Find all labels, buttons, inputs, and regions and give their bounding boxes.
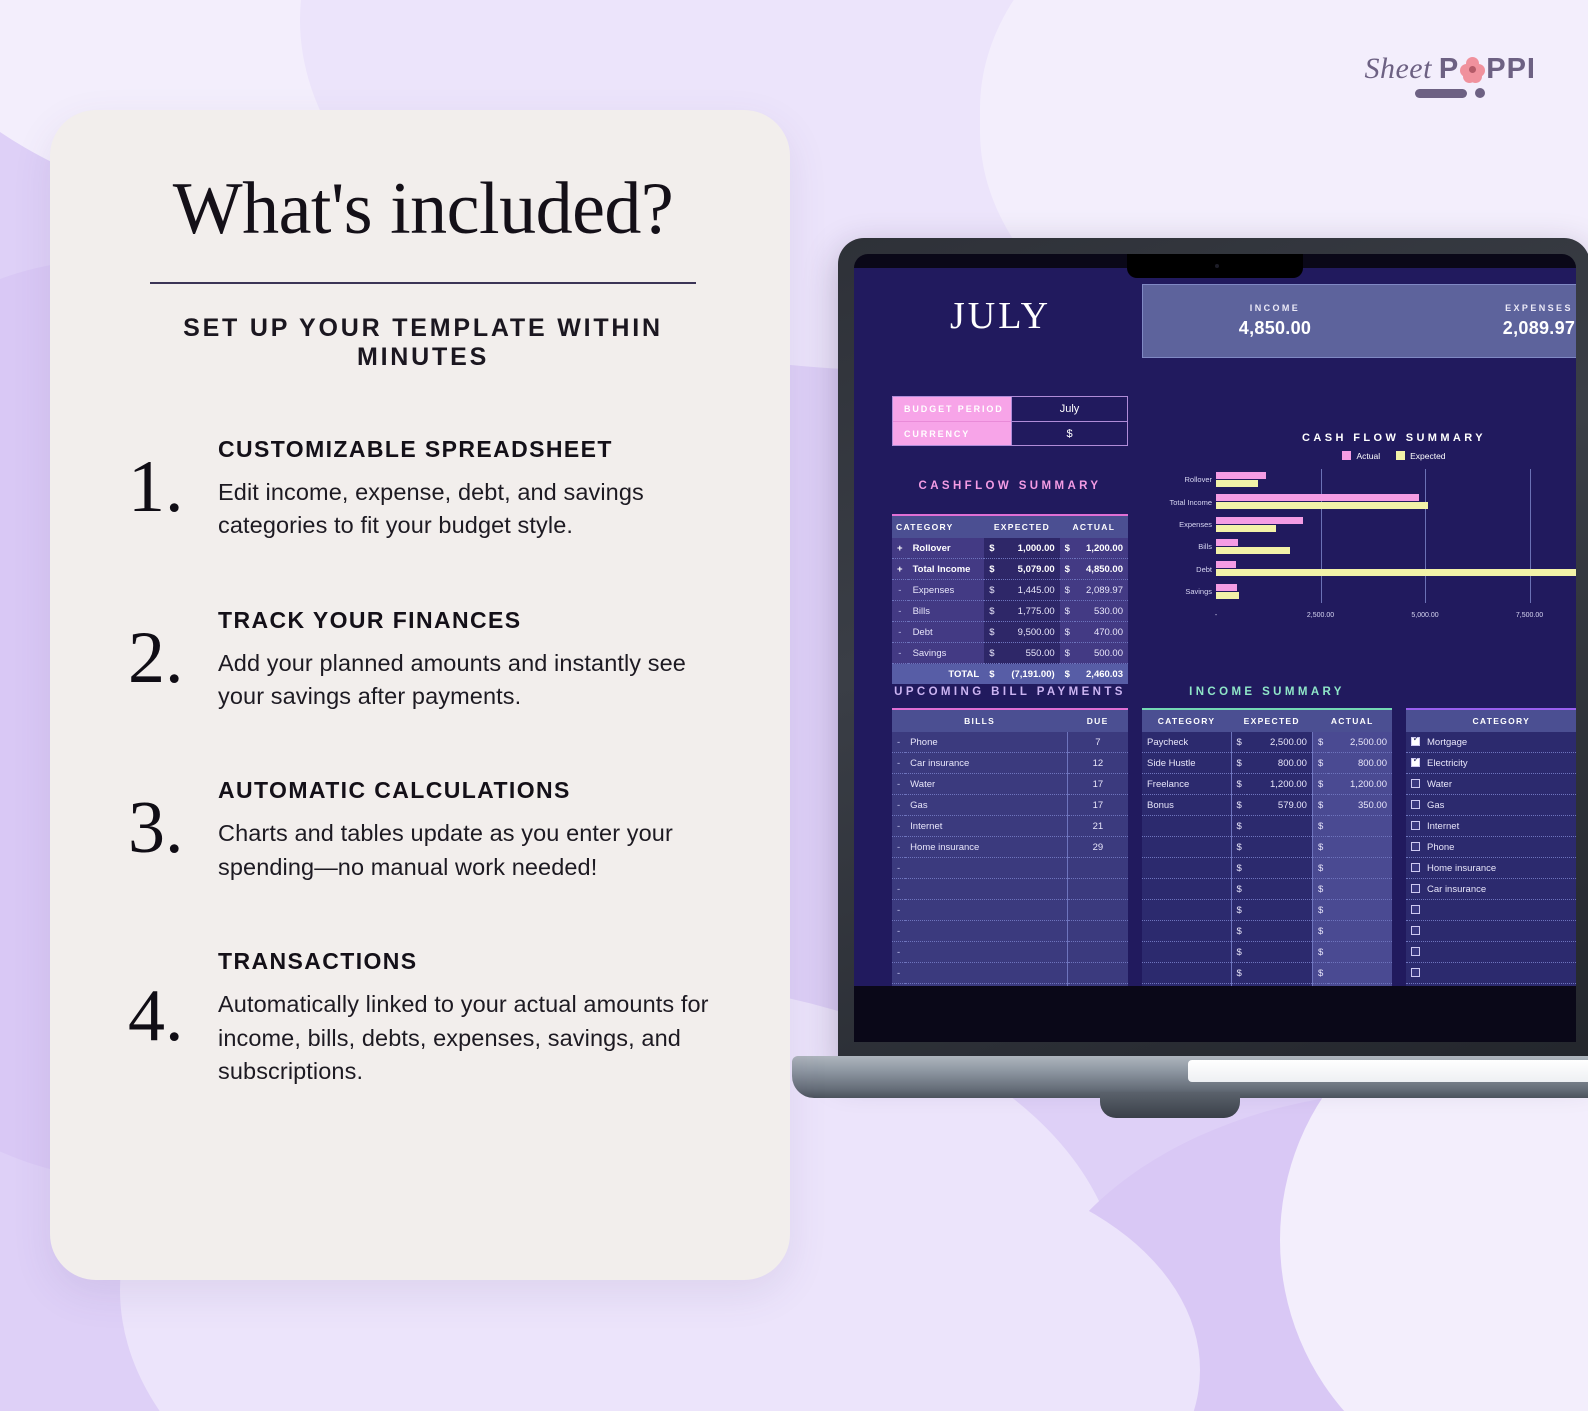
income-expected xyxy=(1247,963,1313,984)
list-item: 1. CUSTOMIZABLE SPREADSHEET Edit income,… xyxy=(114,432,732,543)
bill-due xyxy=(1067,942,1128,963)
cash-flow-chart: CASH FLOW SUMMARY Actual Expected Rollov… xyxy=(1154,432,1576,644)
income-actual xyxy=(1328,963,1392,984)
bill-due xyxy=(1067,984,1128,987)
bill-due: 17 xyxy=(1067,774,1128,795)
bill-name xyxy=(905,879,1067,900)
table-row[interactable] xyxy=(1406,984,1576,987)
income-actual xyxy=(1328,858,1392,879)
budget-settings-box: BUDGET PERIOD July CURRENCY $ xyxy=(892,396,1128,446)
income-actual: 800.00 xyxy=(1328,753,1392,774)
legend-expected: Expected xyxy=(1396,451,1445,461)
checkbox-icon[interactable] xyxy=(1411,779,1420,788)
income-actual: 350.00 xyxy=(1328,795,1392,816)
chart-bar xyxy=(1216,472,1266,479)
income-actual xyxy=(1328,816,1392,837)
table-total-row: TOTAL$(7,191.00)$2,460.03 xyxy=(892,664,1128,685)
th-bills: BILLS xyxy=(892,710,1067,732)
laptop-mockup: JULY INCOME 4,850.00 EXPENSES 2,089.97 B… xyxy=(838,238,1588,1118)
row-sign: - xyxy=(892,601,908,622)
tracker-category: Gas xyxy=(1427,800,1444,811)
currency-symbol: $ xyxy=(984,538,999,559)
month-title: JULY xyxy=(950,294,1051,338)
logo-sheet-text: Sheet xyxy=(1364,52,1431,86)
chart-bar xyxy=(1216,525,1276,532)
chart-bar xyxy=(1216,494,1419,501)
checkbox-icon[interactable] xyxy=(1411,737,1420,746)
table-row[interactable] xyxy=(1406,921,1576,942)
logo-p-text: P xyxy=(1439,53,1459,86)
currency-symbol: $ xyxy=(984,580,999,601)
th-category: CATEGORY xyxy=(1406,710,1576,732)
row-expected: 1,000.00 xyxy=(999,538,1059,559)
bill-name: Internet xyxy=(905,816,1067,837)
row-sign: + xyxy=(892,559,908,580)
table-row[interactable]: Internet21 xyxy=(1406,816,1576,837)
logo-dot-icon xyxy=(1475,88,1485,98)
row-expected: 550.00 xyxy=(999,643,1059,664)
table-row[interactable] xyxy=(1406,963,1576,984)
table-row[interactable]: - xyxy=(892,963,1128,984)
table-row[interactable] xyxy=(1406,900,1576,921)
income-category: Bonus xyxy=(1142,795,1231,816)
chart-category-label: Total Income xyxy=(1154,498,1212,507)
total-actual: 2,460.03 xyxy=(1075,664,1128,685)
income-actual xyxy=(1328,942,1392,963)
income-expected: 800.00 xyxy=(1247,753,1313,774)
kpi-label: INCOME xyxy=(1143,303,1407,313)
row-category: Debt xyxy=(908,622,985,643)
chart-bar xyxy=(1216,592,1239,599)
step-number: 2. xyxy=(114,628,218,689)
table-row[interactable]: -Internet21 xyxy=(892,816,1128,837)
bill-due xyxy=(1067,921,1128,942)
step-heading: TRACK YOUR FINANCES xyxy=(218,607,732,634)
row-sign: - xyxy=(892,580,908,601)
checkbox-icon[interactable] xyxy=(1411,758,1420,767)
row-sign: - xyxy=(892,622,908,643)
income-expected: 579.00 xyxy=(1247,795,1313,816)
bill-name: Phone xyxy=(905,732,1067,753)
currency-symbol: $ xyxy=(984,601,999,622)
tracker-category: Electricity xyxy=(1427,758,1468,769)
flower-icon xyxy=(1460,57,1485,82)
table-header-row: BILLS DUE xyxy=(892,710,1128,732)
table-row[interactable]: Gas17 xyxy=(1406,795,1576,816)
th-category: CATEGORY xyxy=(892,516,984,538)
step-heading: CUSTOMIZABLE SPREADSHEET xyxy=(218,436,732,463)
step-description: Edit income, expense, debt, and savings … xyxy=(218,476,732,543)
table-row[interactable]: -Car insurance12 xyxy=(892,753,1128,774)
step-description: Charts and tables update as you enter yo… xyxy=(218,817,732,884)
table-row[interactable]: -Gas17 xyxy=(892,795,1128,816)
step-number: 3. xyxy=(114,798,218,859)
currency-symbol: $ xyxy=(1060,622,1075,643)
row-expected: 1,775.00 xyxy=(999,601,1059,622)
chart-category-label: Debt xyxy=(1154,565,1212,574)
budget-period-row: BUDGET PERIOD July xyxy=(893,397,1127,421)
income-expected xyxy=(1247,921,1313,942)
cashflow-table: CATEGORY EXPECTED ACTUAL +Rollover$1,000… xyxy=(892,516,1128,684)
tracker-category: Home insurance xyxy=(1427,863,1496,874)
table-row[interactable]: $$ xyxy=(1142,900,1392,921)
chart-bar xyxy=(1216,502,1428,509)
row-expected: 9,500.00 xyxy=(999,622,1059,643)
bill-payments-table-wrap: BILLS DUE -Phone7-Car insurance12-Water1… xyxy=(892,708,1128,986)
income-summary-table: CATEGORY EXPECTED ACTUAL Paycheck$2,500.… xyxy=(1142,710,1392,986)
table-row: -Expenses$1,445.00$2,089.97 xyxy=(892,580,1128,601)
table-row[interactable]: -Home insurance29 xyxy=(892,837,1128,858)
table-row[interactable] xyxy=(1406,942,1576,963)
cashflow-title: CASHFLOW SUMMARY xyxy=(892,480,1128,492)
table-row[interactable]: Side Hustle$800.00$800.00 xyxy=(1142,753,1392,774)
table-row[interactable]: $$ xyxy=(1142,984,1392,987)
budget-period-value[interactable]: July xyxy=(1011,397,1127,421)
cashflow-summary-block: CASHFLOW SUMMARY CATEGORY EXPECTED ACTUA… xyxy=(892,480,1128,684)
chart-x-tick: 5,000.00 xyxy=(1411,612,1438,619)
chart-gridline xyxy=(1321,469,1322,603)
row-expected: 5,079.00 xyxy=(999,559,1059,580)
page-subtitle: SET UP YOUR TEMPLATE WITHIN MINUTES xyxy=(114,314,732,372)
income-expected xyxy=(1247,879,1313,900)
chart-bar xyxy=(1216,569,1576,576)
table-row[interactable]: -Water17 xyxy=(892,774,1128,795)
income-actual xyxy=(1328,900,1392,921)
income-expected: 1,200.00 xyxy=(1247,774,1313,795)
bill-name: Gas xyxy=(905,795,1067,816)
row-category: Rollover xyxy=(908,538,985,559)
chart-bar xyxy=(1216,547,1290,554)
checkbox-icon[interactable] xyxy=(1411,905,1420,914)
chart-title: CASH FLOW SUMMARY xyxy=(1154,432,1576,444)
chart-bar xyxy=(1216,517,1303,524)
table-row[interactable]: Phone7 xyxy=(1406,837,1576,858)
row-sign: - xyxy=(892,643,908,664)
table-header-row: CATEGORY EXPECTED ACTUAL xyxy=(1142,710,1392,732)
income-expected xyxy=(1247,816,1313,837)
th-due: DUE xyxy=(1067,710,1128,732)
kpi-expenses: EXPENSES 2,089.97 xyxy=(1407,303,1576,339)
th-expected: EXPECTED xyxy=(1231,710,1312,732)
table-row[interactable]: - xyxy=(892,879,1128,900)
whats-included-card: What's included? SET UP YOUR TEMPLATE WI… xyxy=(50,110,790,1280)
row-actual: 4,850.00 xyxy=(1075,559,1128,580)
income-category xyxy=(1142,837,1231,858)
list-item: 2. TRACK YOUR FINANCES Add your planned … xyxy=(114,603,732,714)
th-category: CATEGORY xyxy=(1142,710,1231,732)
table-row[interactable]: $$ xyxy=(1142,816,1392,837)
currency-symbol: $ xyxy=(1060,559,1075,580)
row-expected: 1,445.00 xyxy=(999,580,1059,601)
income-expected xyxy=(1247,837,1313,858)
currency-symbol: $ xyxy=(984,643,999,664)
bill-name: Car insurance xyxy=(905,753,1067,774)
table-row: +Total Income$5,079.00$4,850.00 xyxy=(892,559,1128,580)
currency-symbol: $ xyxy=(984,559,999,580)
chart-bar xyxy=(1216,584,1237,591)
bill-due: 21 xyxy=(1067,816,1128,837)
chart-category-label: Bills xyxy=(1154,542,1212,551)
step-description: Automatically linked to your actual amou… xyxy=(218,988,732,1088)
table-row: -Bills$1,775.00$530.00 xyxy=(892,601,1128,622)
tracker-category: Car insurance xyxy=(1427,884,1486,895)
income-category xyxy=(1142,984,1231,987)
webcam-notch xyxy=(1127,254,1303,278)
income-category xyxy=(1142,963,1231,984)
logo-ppi-text: PPI xyxy=(1486,53,1536,86)
brand-logo: Sheet P PPI xyxy=(1364,52,1536,98)
step-heading: AUTOMATIC CALCULATIONS xyxy=(218,777,732,804)
checkbox-icon[interactable] xyxy=(1411,863,1420,872)
total-label: TOTAL xyxy=(892,664,984,685)
row-category: Expenses xyxy=(908,580,985,601)
legend-swatch-icon xyxy=(1342,451,1351,460)
income-category: Paycheck xyxy=(1142,732,1231,753)
income-category xyxy=(1142,858,1231,879)
chart-category-label: Savings xyxy=(1154,587,1212,596)
row-category: Total Income xyxy=(908,559,985,580)
chart-plot-area: RolloverTotal IncomeExpensesBillsDebtSav… xyxy=(1154,469,1576,619)
table-row[interactable]: $$ xyxy=(1142,942,1392,963)
income-expected xyxy=(1247,858,1313,879)
table-row[interactable]: $$ xyxy=(1142,837,1392,858)
income-actual xyxy=(1328,984,1392,987)
table-row[interactable]: - xyxy=(892,858,1128,879)
currency-symbol: $ xyxy=(1060,580,1075,601)
bill-name xyxy=(905,858,1067,879)
table-row[interactable]: Electricity16 xyxy=(1406,753,1576,774)
chart-bar xyxy=(1216,561,1236,568)
kpi-income: INCOME 4,850.00 xyxy=(1143,303,1407,339)
checkbox-icon[interactable] xyxy=(1411,968,1420,977)
income-category xyxy=(1142,879,1231,900)
kpi-label: EXPENSES xyxy=(1407,303,1576,313)
logo-underline-mark xyxy=(1415,88,1485,98)
chart-category-label: Expenses xyxy=(1154,520,1212,529)
row-actual: 530.00 xyxy=(1075,601,1128,622)
tracker-category: Water xyxy=(1427,779,1452,790)
table-row[interactable]: Water17 xyxy=(1406,774,1576,795)
budget-spreadsheet: JULY INCOME 4,850.00 EXPENSES 2,089.97 B… xyxy=(854,268,1576,986)
income-actual xyxy=(1328,837,1392,858)
bill-name xyxy=(905,942,1067,963)
table-row[interactable]: $$ xyxy=(1142,921,1392,942)
checkbox-icon[interactable] xyxy=(1411,842,1420,851)
table-row[interactable]: Home insurance29 xyxy=(1406,858,1576,879)
income-summary-block: INCOME SUMMARY CATEGORY EXPECTED ACTUAL … xyxy=(1142,686,1392,986)
table-row[interactable]: - xyxy=(892,942,1128,963)
bill-due: 29 xyxy=(1067,837,1128,858)
income-category xyxy=(1142,816,1231,837)
step-number: 4. xyxy=(114,986,218,1047)
table-row[interactable]: - xyxy=(892,921,1128,942)
bill-name xyxy=(905,921,1067,942)
kpi-value: 4,850.00 xyxy=(1143,318,1407,339)
step-number: 1. xyxy=(114,457,218,518)
bill-payments-title: UPCOMING BILL PAYMENTS xyxy=(892,686,1128,698)
bill-payments-table: BILLS DUE -Phone7-Car insurance12-Water1… xyxy=(892,710,1128,986)
bill-name: Home insurance xyxy=(905,837,1067,858)
income-summary-title: INCOME SUMMARY xyxy=(1142,686,1392,698)
row-category: Savings xyxy=(908,643,985,664)
income-expected xyxy=(1247,900,1313,921)
income-category: Side Hustle xyxy=(1142,753,1231,774)
laptop-foot xyxy=(1100,1092,1240,1118)
total-expected: (7,191.00) xyxy=(999,664,1059,685)
bill-due: 7 xyxy=(1067,732,1128,753)
upcoming-bill-payments-block: UPCOMING BILL PAYMENTS BILLS DUE -Phone7… xyxy=(892,686,1128,986)
bill-due xyxy=(1067,879,1128,900)
row-actual: 470.00 xyxy=(1075,622,1128,643)
chart-bar xyxy=(1216,480,1258,487)
row-actual: 1,200.00 xyxy=(1075,538,1128,559)
table-row[interactable]: - xyxy=(892,900,1128,921)
step-heading: TRANSACTIONS xyxy=(218,948,732,975)
chart-legend: Actual Expected xyxy=(1154,451,1576,461)
table-row[interactable]: $$ xyxy=(1142,963,1392,984)
checkbox-icon[interactable] xyxy=(1411,800,1420,809)
table-row[interactable]: Bonus$579.00$350.00 xyxy=(1142,795,1392,816)
currency-symbol: $ xyxy=(1060,538,1075,559)
chart-gridline xyxy=(1530,469,1531,603)
bill-name xyxy=(905,963,1067,984)
table-row: -Debt$9,500.00$470.00 xyxy=(892,622,1128,643)
currency-value[interactable]: $ xyxy=(1011,421,1127,445)
kpi-value: 2,089.97 xyxy=(1407,318,1576,339)
currency-row: CURRENCY $ xyxy=(893,421,1127,445)
row-sign: + xyxy=(892,538,908,559)
checkbox-icon[interactable] xyxy=(1411,947,1420,956)
income-category: Freelance xyxy=(1142,774,1231,795)
step-description: Add your planned amounts and instantly s… xyxy=(218,647,732,714)
table-row[interactable]: - xyxy=(892,984,1128,987)
income-actual xyxy=(1328,921,1392,942)
laptop-lid: JULY INCOME 4,850.00 EXPENSES 2,089.97 B… xyxy=(838,238,1588,1068)
table-row: +Rollover$1,000.00$1,200.00 xyxy=(892,538,1128,559)
table-row[interactable]: $$ xyxy=(1142,879,1392,900)
title-divider xyxy=(150,282,696,284)
logo-dash-icon xyxy=(1415,89,1467,98)
legend-swatch-icon xyxy=(1396,451,1405,460)
income-category xyxy=(1142,900,1231,921)
chart-x-tick: 2,500.00 xyxy=(1307,612,1334,619)
bill-name xyxy=(905,900,1067,921)
tracker-category: Mortgage xyxy=(1427,737,1467,748)
list-item: 4. TRANSACTIONS Automatically linked to … xyxy=(114,944,732,1088)
chart-x-tick: 7,500.00 xyxy=(1516,612,1543,619)
bill-tracker-table: CATEGORY DUE Mortgage10Electricity16Wate… xyxy=(1406,710,1576,986)
tracker-category: Phone xyxy=(1427,842,1454,853)
bill-tracker-table-wrap: CATEGORY DUE Mortgage10Electricity16Wate… xyxy=(1406,708,1576,986)
checkbox-icon[interactable] xyxy=(1411,821,1420,830)
table-row[interactable]: Car insurance12 xyxy=(1406,879,1576,900)
bill-due xyxy=(1067,963,1128,984)
th-actual: ACTUAL xyxy=(1060,516,1128,538)
chart-bar xyxy=(1216,539,1238,546)
table-header-row: CATEGORY EXPECTED ACTUAL xyxy=(892,516,1128,538)
table-row[interactable]: Freelance$1,200.00$1,200.00 xyxy=(1142,774,1392,795)
list-item: 3. AUTOMATIC CALCULATIONS Charts and tab… xyxy=(114,773,732,884)
bill-name: Water xyxy=(905,774,1067,795)
row-actual: 500.00 xyxy=(1075,643,1128,664)
budget-period-label: BUDGET PERIOD xyxy=(893,397,1011,421)
row-actual: 2,089.97 xyxy=(1075,580,1128,601)
checkbox-icon[interactable] xyxy=(1411,884,1420,893)
income-expected: 2,500.00 xyxy=(1247,732,1313,753)
th-actual: ACTUAL xyxy=(1312,710,1392,732)
laptop-screen: JULY INCOME 4,850.00 EXPENSES 2,089.97 B… xyxy=(854,254,1576,1042)
income-actual: 1,200.00 xyxy=(1328,774,1392,795)
cashflow-table-wrap: CATEGORY EXPECTED ACTUAL +Rollover$1,000… xyxy=(892,514,1128,684)
logo-wordmark: Sheet P PPI xyxy=(1364,52,1536,86)
currency-symbol: $ xyxy=(1060,643,1075,664)
row-category: Bills xyxy=(908,601,985,622)
table-row: -Savings$550.00$500.00 xyxy=(892,643,1128,664)
page-title: What's included? xyxy=(114,172,732,246)
currency-symbol: $ xyxy=(1060,601,1075,622)
kpi-summary-bar: INCOME 4,850.00 EXPENSES 2,089.97 BILLS … xyxy=(1142,284,1576,358)
bill-due xyxy=(1067,900,1128,921)
income-summary-table-wrap: CATEGORY EXPECTED ACTUAL Paycheck$2,500.… xyxy=(1142,708,1392,986)
bill-tracker-block: BILL T CATEGORY DUE Mortgage10Electricit… xyxy=(1406,686,1576,986)
income-actual xyxy=(1328,879,1392,900)
currency-label: CURRENCY xyxy=(893,421,1011,445)
legend-actual: Actual xyxy=(1342,451,1380,461)
bill-due: 12 xyxy=(1067,753,1128,774)
income-category xyxy=(1142,921,1231,942)
checkbox-icon[interactable] xyxy=(1411,926,1420,935)
steps-list: 1. CUSTOMIZABLE SPREADSHEET Edit income,… xyxy=(114,432,732,1088)
th-expected: EXPECTED xyxy=(984,516,1059,538)
table-header-row: CATEGORY DUE xyxy=(1406,710,1576,732)
chart-category-label: Rollover xyxy=(1154,475,1212,484)
income-expected xyxy=(1247,942,1313,963)
bill-name xyxy=(905,984,1067,987)
income-category xyxy=(1142,942,1231,963)
table-row[interactable]: Paycheck$2,500.00$2,500.00 xyxy=(1142,732,1392,753)
currency-symbol: $ xyxy=(984,622,999,643)
income-actual: 2,500.00 xyxy=(1328,732,1392,753)
income-expected xyxy=(1247,984,1313,987)
bill-tracker-title: BILL T xyxy=(1406,686,1576,698)
table-row[interactable]: Mortgage10 xyxy=(1406,732,1576,753)
bill-due xyxy=(1067,858,1128,879)
table-row[interactable]: $$ xyxy=(1142,858,1392,879)
bill-due: 17 xyxy=(1067,795,1128,816)
chart-x-tick: - xyxy=(1215,612,1217,619)
table-row[interactable]: -Phone7 xyxy=(892,732,1128,753)
tracker-category: Internet xyxy=(1427,821,1459,832)
chart-gridline xyxy=(1425,469,1426,603)
